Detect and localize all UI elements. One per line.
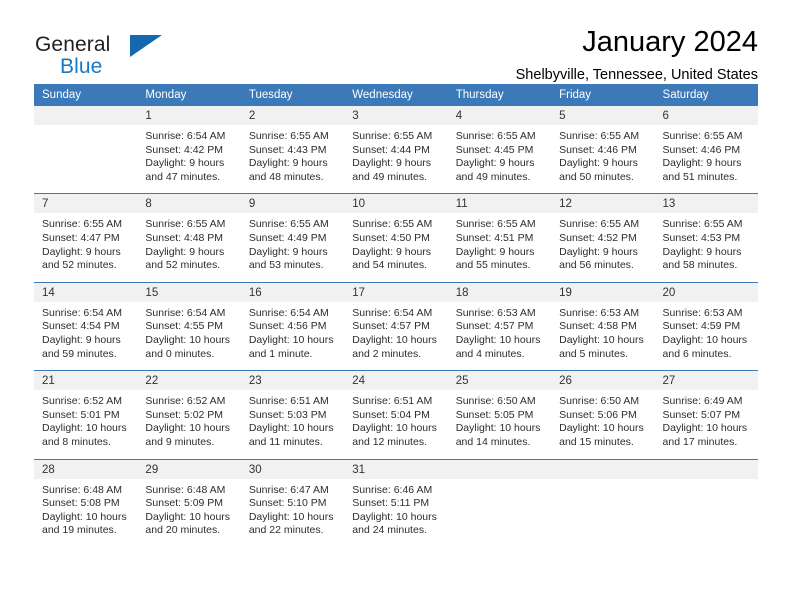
day-number: 4: [448, 106, 551, 125]
day-number: 30: [241, 460, 344, 479]
daylight-text-line1: Daylight: 10 hours: [42, 422, 131, 436]
day-details: [551, 479, 654, 545]
daylight-text-line2: and 48 minutes.: [249, 171, 338, 185]
sunrise-text: Sunrise: 6:48 AM: [145, 484, 234, 498]
day-number: 10: [344, 194, 447, 213]
daylight-text-line1: Daylight: 10 hours: [663, 422, 752, 436]
page-subtitle: Shelbyville, Tennessee, United States: [516, 67, 758, 84]
weekday-header-friday: Friday: [551, 84, 654, 106]
day-number: 12: [551, 194, 654, 213]
daylight-text-line2: and 1 minute.: [249, 348, 338, 362]
day-number: 14: [34, 283, 137, 302]
day-number: 26: [551, 371, 654, 390]
calendar-day-cell-empty: [551, 459, 654, 547]
sunset-text: Sunset: 4:50 PM: [352, 232, 441, 246]
title-block: January 2024 Shelbyville, Tennessee, Uni…: [516, 26, 758, 85]
sunrise-text: Sunrise: 6:54 AM: [42, 307, 131, 321]
calendar-day-cell[interactable]: 19Sunrise: 6:53 AMSunset: 4:58 PMDayligh…: [551, 282, 654, 370]
sunset-text: Sunset: 4:52 PM: [559, 232, 648, 246]
daylight-text-line2: and 53 minutes.: [249, 259, 338, 273]
sunrise-text: Sunrise: 6:53 AM: [663, 307, 752, 321]
day-number: 20: [655, 283, 758, 302]
sunset-text: Sunset: 4:49 PM: [249, 232, 338, 246]
sunset-text: Sunset: 4:46 PM: [663, 144, 752, 158]
daylight-text-line2: and 49 minutes.: [456, 171, 545, 185]
daylight-text-line1: Daylight: 10 hours: [145, 511, 234, 525]
sunrise-text: Sunrise: 6:54 AM: [249, 307, 338, 321]
daylight-text-line2: and 9 minutes.: [145, 436, 234, 450]
day-number: 21: [34, 371, 137, 390]
daylight-text-line2: and 14 minutes.: [456, 436, 545, 450]
sunrise-text: Sunrise: 6:52 AM: [42, 395, 131, 409]
sunset-text: Sunset: 4:44 PM: [352, 144, 441, 158]
day-number: 7: [34, 194, 137, 213]
day-number: 17: [344, 283, 447, 302]
weekday-header-tuesday: Tuesday: [241, 84, 344, 106]
day-details: Sunrise: 6:55 AMSunset: 4:53 PMDaylight:…: [655, 213, 758, 281]
sunrise-text: Sunrise: 6:46 AM: [352, 484, 441, 498]
day-number: 8: [137, 194, 240, 213]
daylight-text-line1: Daylight: 10 hours: [249, 422, 338, 436]
sunset-text: Sunset: 5:09 PM: [145, 497, 234, 511]
sunrise-text: Sunrise: 6:55 AM: [456, 218, 545, 232]
calendar-day-cell-empty: [34, 106, 137, 194]
daylight-text-line1: Daylight: 10 hours: [249, 334, 338, 348]
day-details: Sunrise: 6:54 AMSunset: 4:54 PMDaylight:…: [34, 302, 137, 370]
calendar-day-cell[interactable]: 1Sunrise: 6:54 AMSunset: 4:42 PMDaylight…: [137, 106, 240, 194]
daylight-text-line2: and 52 minutes.: [42, 259, 131, 273]
daylight-text-line2: and 4 minutes.: [456, 348, 545, 362]
daylight-text-line1: Daylight: 10 hours: [145, 334, 234, 348]
sunset-text: Sunset: 4:42 PM: [145, 144, 234, 158]
calendar-week-row: 21Sunrise: 6:52 AMSunset: 5:01 PMDayligh…: [34, 371, 758, 459]
sunset-text: Sunset: 4:51 PM: [456, 232, 545, 246]
sunrise-text: Sunrise: 6:49 AM: [663, 395, 752, 409]
calendar-week-row: 28Sunrise: 6:48 AMSunset: 5:08 PMDayligh…: [34, 459, 758, 547]
sunrise-text: Sunrise: 6:47 AM: [249, 484, 338, 498]
daylight-text-line1: Daylight: 9 hours: [663, 246, 752, 260]
calendar-day-cell[interactable]: 20Sunrise: 6:53 AMSunset: 4:59 PMDayligh…: [655, 282, 758, 370]
brand-triangle-icon: [130, 35, 162, 57]
daylight-text-line2: and 50 minutes.: [559, 171, 648, 185]
day-details: Sunrise: 6:55 AMSunset: 4:50 PMDaylight:…: [344, 213, 447, 281]
daylight-text-line1: Daylight: 10 hours: [145, 422, 234, 436]
day-number: 19: [551, 283, 654, 302]
calendar-day-cell[interactable]: 22Sunrise: 6:52 AMSunset: 5:02 PMDayligh…: [137, 371, 240, 459]
day-details: Sunrise: 6:55 AMSunset: 4:46 PMDaylight:…: [655, 125, 758, 193]
sunrise-text: Sunrise: 6:55 AM: [352, 130, 441, 144]
calendar-day-cell[interactable]: 6Sunrise: 6:55 AMSunset: 4:46 PMDaylight…: [655, 106, 758, 194]
day-details: Sunrise: 6:55 AMSunset: 4:46 PMDaylight:…: [551, 125, 654, 193]
sunset-text: Sunset: 5:03 PM: [249, 409, 338, 423]
calendar-day-cell[interactable]: 5Sunrise: 6:55 AMSunset: 4:46 PMDaylight…: [551, 106, 654, 194]
sunrise-text: Sunrise: 6:48 AM: [42, 484, 131, 498]
day-number: [448, 460, 551, 479]
day-details: Sunrise: 6:54 AMSunset: 4:42 PMDaylight:…: [137, 125, 240, 193]
sunrise-text: Sunrise: 6:55 AM: [249, 130, 338, 144]
sunset-text: Sunset: 5:07 PM: [663, 409, 752, 423]
sunset-text: Sunset: 5:01 PM: [42, 409, 131, 423]
page-header: General Blue January 2024 Shelbyville, T…: [34, 0, 758, 78]
day-details: Sunrise: 6:47 AMSunset: 5:10 PMDaylight:…: [241, 479, 344, 547]
daylight-text-line1: Daylight: 10 hours: [42, 511, 131, 525]
sunset-text: Sunset: 4:53 PM: [663, 232, 752, 246]
sunset-text: Sunset: 5:11 PM: [352, 497, 441, 511]
weekday-header-wednesday: Wednesday: [344, 84, 447, 106]
daylight-text-line2: and 0 minutes.: [145, 348, 234, 362]
sunrise-text: Sunrise: 6:55 AM: [352, 218, 441, 232]
day-number: 31: [344, 460, 447, 479]
sunrise-text: Sunrise: 6:50 AM: [559, 395, 648, 409]
daylight-text-line2: and 24 minutes.: [352, 524, 441, 538]
calendar-day-cell[interactable]: 11Sunrise: 6:55 AMSunset: 4:51 PMDayligh…: [448, 194, 551, 282]
day-number: 29: [137, 460, 240, 479]
daylight-text-line1: Daylight: 9 hours: [456, 157, 545, 171]
calendar-day-cell-empty: [448, 459, 551, 547]
calendar-day-cell[interactable]: 25Sunrise: 6:50 AMSunset: 5:05 PMDayligh…: [448, 371, 551, 459]
daylight-text-line1: Daylight: 10 hours: [352, 511, 441, 525]
sunset-text: Sunset: 4:47 PM: [42, 232, 131, 246]
day-number: 25: [448, 371, 551, 390]
daylight-text-line2: and 47 minutes.: [145, 171, 234, 185]
day-number: [551, 460, 654, 479]
day-details: Sunrise: 6:55 AMSunset: 4:47 PMDaylight:…: [34, 213, 137, 281]
day-details: Sunrise: 6:51 AMSunset: 5:03 PMDaylight:…: [241, 390, 344, 458]
daylight-text-line2: and 15 minutes.: [559, 436, 648, 450]
daylight-text-line2: and 56 minutes.: [559, 259, 648, 273]
daylight-text-line1: Daylight: 10 hours: [352, 422, 441, 436]
calendar-day-cell[interactable]: 4Sunrise: 6:55 AMSunset: 4:45 PMDaylight…: [448, 106, 551, 194]
day-details: Sunrise: 6:53 AMSunset: 4:57 PMDaylight:…: [448, 302, 551, 370]
daylight-text-line2: and 52 minutes.: [145, 259, 234, 273]
day-details: Sunrise: 6:55 AMSunset: 4:49 PMDaylight:…: [241, 213, 344, 281]
weekday-header-monday: Monday: [137, 84, 240, 106]
calendar-day-cell[interactable]: 29Sunrise: 6:48 AMSunset: 5:09 PMDayligh…: [137, 459, 240, 547]
sunrise-text: Sunrise: 6:52 AM: [145, 395, 234, 409]
day-number: [34, 106, 137, 125]
sunset-text: Sunset: 4:48 PM: [145, 232, 234, 246]
daylight-text-line2: and 2 minutes.: [352, 348, 441, 362]
day-details: Sunrise: 6:48 AMSunset: 5:09 PMDaylight:…: [137, 479, 240, 547]
daylight-text-line2: and 55 minutes.: [456, 259, 545, 273]
calendar-day-cell[interactable]: 3Sunrise: 6:55 AMSunset: 4:44 PMDaylight…: [344, 106, 447, 194]
sunset-text: Sunset: 4:56 PM: [249, 320, 338, 334]
general-blue-logo[interactable]: General Blue: [34, 26, 164, 76]
sunrise-text: Sunrise: 6:54 AM: [145, 307, 234, 321]
sunrise-text: Sunrise: 6:55 AM: [559, 218, 648, 232]
sunrise-text: Sunrise: 6:53 AM: [456, 307, 545, 321]
sunrise-text: Sunrise: 6:51 AM: [249, 395, 338, 409]
sunrise-text: Sunrise: 6:55 AM: [456, 130, 545, 144]
calendar-day-cell[interactable]: 28Sunrise: 6:48 AMSunset: 5:08 PMDayligh…: [34, 459, 137, 547]
sunset-text: Sunset: 4:55 PM: [145, 320, 234, 334]
daylight-text-line2: and 20 minutes.: [145, 524, 234, 538]
daylight-text-line1: Daylight: 9 hours: [456, 246, 545, 260]
calendar-week-row: 1Sunrise: 6:54 AMSunset: 4:42 PMDaylight…: [34, 106, 758, 194]
daylight-text-line1: Daylight: 9 hours: [249, 157, 338, 171]
sunrise-text: Sunrise: 6:55 AM: [249, 218, 338, 232]
day-details: Sunrise: 6:53 AMSunset: 4:58 PMDaylight:…: [551, 302, 654, 370]
day-number: 18: [448, 283, 551, 302]
sunset-text: Sunset: 4:46 PM: [559, 144, 648, 158]
weekday-header-row: Sunday Monday Tuesday Wednesday Thursday…: [34, 84, 758, 106]
sunrise-text: Sunrise: 6:51 AM: [352, 395, 441, 409]
day-number: 24: [344, 371, 447, 390]
daylight-text-line1: Daylight: 9 hours: [663, 157, 752, 171]
daylight-text-line2: and 6 minutes.: [663, 348, 752, 362]
daylight-text-line2: and 12 minutes.: [352, 436, 441, 450]
sunset-text: Sunset: 4:43 PM: [249, 144, 338, 158]
calendar-day-cell[interactable]: 13Sunrise: 6:55 AMSunset: 4:53 PMDayligh…: [655, 194, 758, 282]
sunset-text: Sunset: 4:54 PM: [42, 320, 131, 334]
day-details: Sunrise: 6:46 AMSunset: 5:11 PMDaylight:…: [344, 479, 447, 547]
daylight-text-line1: Daylight: 10 hours: [559, 334, 648, 348]
daylight-text-line2: and 59 minutes.: [42, 348, 131, 362]
day-details: Sunrise: 6:55 AMSunset: 4:45 PMDaylight:…: [448, 125, 551, 193]
day-details: Sunrise: 6:55 AMSunset: 4:52 PMDaylight:…: [551, 213, 654, 281]
calendar-day-cell[interactable]: 21Sunrise: 6:52 AMSunset: 5:01 PMDayligh…: [34, 371, 137, 459]
sunset-text: Sunset: 5:08 PM: [42, 497, 131, 511]
day-number: 1: [137, 106, 240, 125]
calendar-page: General Blue January 2024 Shelbyville, T…: [0, 0, 792, 612]
sunset-text: Sunset: 5:06 PM: [559, 409, 648, 423]
day-details: Sunrise: 6:53 AMSunset: 4:59 PMDaylight:…: [655, 302, 758, 370]
sunrise-text: Sunrise: 6:55 AM: [663, 218, 752, 232]
calendar-day-cell[interactable]: 14Sunrise: 6:54 AMSunset: 4:54 PMDayligh…: [34, 282, 137, 370]
daylight-text-line2: and 8 minutes.: [42, 436, 131, 450]
sunrise-sunset-calendar: Sunday Monday Tuesday Wednesday Thursday…: [34, 84, 758, 547]
calendar-day-cell[interactable]: 31Sunrise: 6:46 AMSunset: 5:11 PMDayligh…: [344, 459, 447, 547]
sunrise-text: Sunrise: 6:53 AM: [559, 307, 648, 321]
calendar-day-cell[interactable]: 24Sunrise: 6:51 AMSunset: 5:04 PMDayligh…: [344, 371, 447, 459]
day-details: Sunrise: 6:55 AMSunset: 4:51 PMDaylight:…: [448, 213, 551, 281]
day-details: Sunrise: 6:55 AMSunset: 4:43 PMDaylight:…: [241, 125, 344, 193]
day-details: Sunrise: 6:54 AMSunset: 4:56 PMDaylight:…: [241, 302, 344, 370]
daylight-text-line1: Daylight: 9 hours: [352, 246, 441, 260]
sunrise-text: Sunrise: 6:55 AM: [42, 218, 131, 232]
day-details: Sunrise: 6:50 AMSunset: 5:05 PMDaylight:…: [448, 390, 551, 458]
daylight-text-line2: and 49 minutes.: [352, 171, 441, 185]
calendar-day-cell[interactable]: 30Sunrise: 6:47 AMSunset: 5:10 PMDayligh…: [241, 459, 344, 547]
day-details: [34, 125, 137, 191]
daylight-text-line1: Daylight: 10 hours: [663, 334, 752, 348]
day-number: 22: [137, 371, 240, 390]
daylight-text-line2: and 5 minutes.: [559, 348, 648, 362]
daylight-text-line2: and 54 minutes.: [352, 259, 441, 273]
day-details: [448, 479, 551, 545]
sunrise-text: Sunrise: 6:54 AM: [145, 130, 234, 144]
calendar-day-cell[interactable]: 15Sunrise: 6:54 AMSunset: 4:55 PMDayligh…: [137, 282, 240, 370]
calendar-day-cell[interactable]: 8Sunrise: 6:55 AMSunset: 4:48 PMDaylight…: [137, 194, 240, 282]
calendar-day-cell[interactable]: 26Sunrise: 6:50 AMSunset: 5:06 PMDayligh…: [551, 371, 654, 459]
weekday-header-thursday: Thursday: [448, 84, 551, 106]
day-details: Sunrise: 6:55 AMSunset: 4:44 PMDaylight:…: [344, 125, 447, 193]
daylight-text-line1: Daylight: 9 hours: [249, 246, 338, 260]
day-number: 23: [241, 371, 344, 390]
calendar-day-cell[interactable]: 9Sunrise: 6:55 AMSunset: 4:49 PMDaylight…: [241, 194, 344, 282]
day-number: 9: [241, 194, 344, 213]
day-number: 16: [241, 283, 344, 302]
daylight-text-line1: Daylight: 9 hours: [352, 157, 441, 171]
sunrise-text: Sunrise: 6:50 AM: [456, 395, 545, 409]
day-details: Sunrise: 6:54 AMSunset: 4:57 PMDaylight:…: [344, 302, 447, 370]
day-number: 2: [241, 106, 344, 125]
calendar-day-cell-empty: [655, 459, 758, 547]
calendar-day-cell[interactable]: 2Sunrise: 6:55 AMSunset: 4:43 PMDaylight…: [241, 106, 344, 194]
day-details: Sunrise: 6:50 AMSunset: 5:06 PMDaylight:…: [551, 390, 654, 458]
day-details: Sunrise: 6:52 AMSunset: 5:01 PMDaylight:…: [34, 390, 137, 458]
day-number: 27: [655, 371, 758, 390]
sunset-text: Sunset: 4:57 PM: [456, 320, 545, 334]
logo-text-blue: Blue: [60, 56, 102, 77]
daylight-text-line2: and 11 minutes.: [249, 436, 338, 450]
daylight-text-line2: and 22 minutes.: [249, 524, 338, 538]
calendar-day-cell[interactable]: 10Sunrise: 6:55 AMSunset: 4:50 PMDayligh…: [344, 194, 447, 282]
sunset-text: Sunset: 5:05 PM: [456, 409, 545, 423]
calendar-day-cell[interactable]: 7Sunrise: 6:55 AMSunset: 4:47 PMDaylight…: [34, 194, 137, 282]
page-title: January 2024: [516, 26, 758, 59]
daylight-text-line1: Daylight: 10 hours: [559, 422, 648, 436]
day-number: 15: [137, 283, 240, 302]
day-details: Sunrise: 6:54 AMSunset: 4:55 PMDaylight:…: [137, 302, 240, 370]
day-number: 13: [655, 194, 758, 213]
daylight-text-line1: Daylight: 9 hours: [145, 157, 234, 171]
daylight-text-line1: Daylight: 10 hours: [249, 511, 338, 525]
calendar-day-cell[interactable]: 18Sunrise: 6:53 AMSunset: 4:57 PMDayligh…: [448, 282, 551, 370]
day-number: 6: [655, 106, 758, 125]
calendar-day-cell[interactable]: 23Sunrise: 6:51 AMSunset: 5:03 PMDayligh…: [241, 371, 344, 459]
daylight-text-line1: Daylight: 9 hours: [42, 334, 131, 348]
daylight-text-line1: Daylight: 9 hours: [559, 157, 648, 171]
day-number: 3: [344, 106, 447, 125]
calendar-day-cell[interactable]: 27Sunrise: 6:49 AMSunset: 5:07 PMDayligh…: [655, 371, 758, 459]
sunset-text: Sunset: 5:04 PM: [352, 409, 441, 423]
day-details: Sunrise: 6:51 AMSunset: 5:04 PMDaylight:…: [344, 390, 447, 458]
weekday-header-saturday: Saturday: [655, 84, 758, 106]
daylight-text-line2: and 58 minutes.: [663, 259, 752, 273]
daylight-text-line1: Daylight: 9 hours: [559, 246, 648, 260]
calendar-day-cell[interactable]: 16Sunrise: 6:54 AMSunset: 4:56 PMDayligh…: [241, 282, 344, 370]
sunrise-text: Sunrise: 6:55 AM: [663, 130, 752, 144]
day-details: Sunrise: 6:55 AMSunset: 4:48 PMDaylight:…: [137, 213, 240, 281]
day-number: 5: [551, 106, 654, 125]
daylight-text-line1: Daylight: 10 hours: [456, 334, 545, 348]
sunset-text: Sunset: 4:59 PM: [663, 320, 752, 334]
logo-text-general: General: [35, 34, 110, 55]
day-number: 28: [34, 460, 137, 479]
daylight-text-line2: and 51 minutes.: [663, 171, 752, 185]
calendar-day-cell[interactable]: 17Sunrise: 6:54 AMSunset: 4:57 PMDayligh…: [344, 282, 447, 370]
day-number: 11: [448, 194, 551, 213]
day-number: [655, 460, 758, 479]
daylight-text-line1: Daylight: 10 hours: [352, 334, 441, 348]
calendar-week-row: 14Sunrise: 6:54 AMSunset: 4:54 PMDayligh…: [34, 282, 758, 370]
day-details: Sunrise: 6:52 AMSunset: 5:02 PMDaylight:…: [137, 390, 240, 458]
daylight-text-line2: and 19 minutes.: [42, 524, 131, 538]
sunrise-text: Sunrise: 6:54 AM: [352, 307, 441, 321]
daylight-text-line2: and 17 minutes.: [663, 436, 752, 450]
sunrise-text: Sunrise: 6:55 AM: [559, 130, 648, 144]
daylight-text-line1: Daylight: 9 hours: [42, 246, 131, 260]
sunset-text: Sunset: 5:10 PM: [249, 497, 338, 511]
weekday-header-sunday: Sunday: [34, 84, 137, 106]
sunset-text: Sunset: 4:57 PM: [352, 320, 441, 334]
sunset-text: Sunset: 4:45 PM: [456, 144, 545, 158]
calendar-week-row: 7Sunrise: 6:55 AMSunset: 4:47 PMDaylight…: [34, 194, 758, 282]
day-details: Sunrise: 6:48 AMSunset: 5:08 PMDaylight:…: [34, 479, 137, 547]
sunset-text: Sunset: 4:58 PM: [559, 320, 648, 334]
calendar-day-cell[interactable]: 12Sunrise: 6:55 AMSunset: 4:52 PMDayligh…: [551, 194, 654, 282]
sunrise-text: Sunrise: 6:55 AM: [145, 218, 234, 232]
day-details: [655, 479, 758, 545]
day-details: Sunrise: 6:49 AMSunset: 5:07 PMDaylight:…: [655, 390, 758, 458]
daylight-text-line1: Daylight: 10 hours: [456, 422, 545, 436]
daylight-text-line1: Daylight: 9 hours: [145, 246, 234, 260]
sunset-text: Sunset: 5:02 PM: [145, 409, 234, 423]
